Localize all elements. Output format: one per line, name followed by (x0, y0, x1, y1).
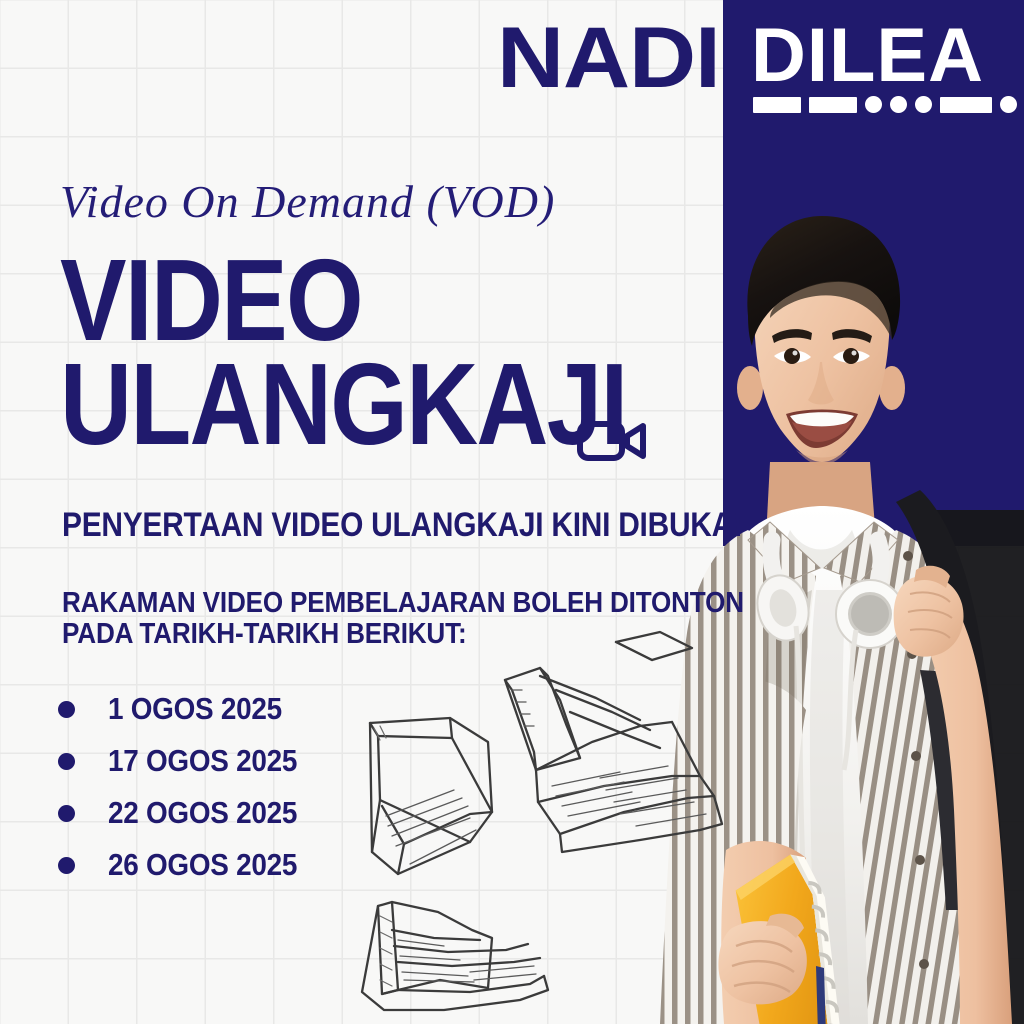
logo-dilea-block: DILEA (751, 16, 1011, 96)
video-camera-icon (577, 417, 649, 465)
date-label: 22 OGOS 2025 (108, 797, 297, 829)
logo-mark-bar (809, 97, 857, 113)
date-label: 26 OGOS 2025 (108, 849, 297, 881)
bullet-icon (58, 701, 75, 718)
logo-mark-dot (1000, 96, 1017, 113)
list-item: 22 OGOS 2025 (58, 787, 318, 839)
headline-line-1: VIDEO (60, 248, 626, 352)
subheadline: PENYERTAAN VIDEO ULANGKAJI KINI DIBUKA! (62, 506, 743, 544)
list-item: 26 OGOS 2025 (58, 839, 318, 891)
page-title: VIDEO ULANGKAJI (60, 248, 626, 456)
eyebrow-text: Video On Demand (VOD) (60, 174, 555, 230)
list-item: 17 OGOS 2025 (58, 735, 318, 787)
body-copy: RAKAMAN VIDEO PEMBELAJARAN BOLEH DITONTO… (62, 588, 744, 650)
logo-mark-dot (890, 96, 907, 113)
bullet-icon (58, 753, 75, 770)
headline-line-2: ULANGKAJI (60, 352, 626, 456)
brand-logo: NADI DILEA (497, 14, 725, 118)
body-copy-line-2: PADA TARIKH-TARIKH BERIKUT: (62, 619, 744, 650)
bullet-icon (58, 805, 75, 822)
logo-dash-dot-marks (753, 96, 1024, 113)
logo-mark-bar (753, 97, 801, 113)
logo-mark-dot (915, 96, 932, 113)
list-item: 1 OGOS 2025 (58, 683, 318, 735)
body-copy-line-1: RAKAMAN VIDEO PEMBELAJARAN BOLEH DITONTO… (62, 588, 744, 619)
logo-mark-dot (865, 96, 882, 113)
date-label: 1 OGOS 2025 (108, 693, 282, 725)
logo-dilea-text: DILEA (751, 16, 1011, 96)
date-list: 1 OGOS 2025 17 OGOS 2025 22 OGOS 2025 26… (58, 683, 318, 891)
date-label: 17 OGOS 2025 (108, 745, 297, 777)
poster-canvas: NADI DILEA Video On Demand (VOD) VIDEO U… (0, 0, 1024, 1024)
bullet-icon (58, 857, 75, 874)
logo-mark-bar (940, 97, 992, 113)
logo-nadi-text: NADI (497, 14, 743, 102)
